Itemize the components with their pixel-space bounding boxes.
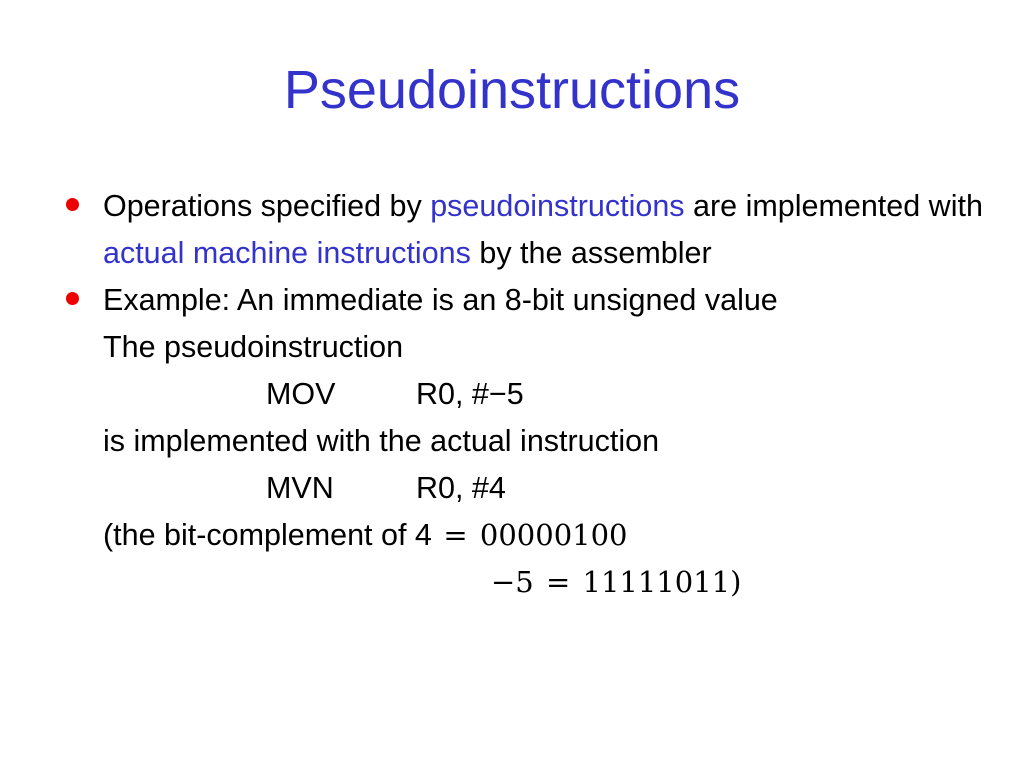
- mvn-mnemonic: MVN: [266, 465, 416, 512]
- bullet-2-line-3: is implemented with the actual instructi…: [103, 418, 988, 465]
- actual-instruction-code-line: MVNR0, #4: [103, 465, 988, 512]
- bullet-1-segment-1: Operations specified by: [103, 189, 430, 223]
- bullet-item-2: Example: An immediate is an 8-bit unsign…: [58, 277, 988, 606]
- slide: Pseudoinstructions Operations specified …: [0, 0, 1024, 768]
- negative-five-line: −5 = 11111011): [103, 559, 988, 606]
- bullet-2-line-1: Example: An immediate is an 8-bit unsign…: [103, 277, 988, 324]
- negative-five-binary-value: 11111011): [573, 565, 741, 599]
- slide-title: Pseudoinstructions: [0, 58, 1024, 122]
- bullet-1-highlight-2: actual machine instructions: [103, 236, 471, 270]
- bit-complement-equals-sign: =: [440, 518, 470, 552]
- pseudoinstruction-code-line: MOVR0, #−5: [103, 371, 988, 418]
- slide-body: Operations specified by pseudoinstructio…: [58, 183, 988, 606]
- mvn-operands: R0, #4: [416, 471, 506, 505]
- bullet-1-text: Operations specified by pseudoinstructio…: [103, 183, 988, 277]
- negative-five-equals-sign: =: [543, 565, 573, 599]
- bullet-1-segment-2: are implemented with: [685, 189, 983, 223]
- bullet-marker-icon: [66, 292, 79, 305]
- bullet-marker-icon: [66, 198, 79, 211]
- bit-complement-binary-value: 00000100: [471, 518, 628, 552]
- bullet-2-line-2: The pseudoinstruction: [103, 324, 988, 371]
- mov-mnemonic: MOV: [266, 371, 416, 418]
- bullet-1-segment-3: by the assembler: [471, 236, 712, 270]
- mov-operands: R0, #−5: [416, 377, 524, 411]
- bit-complement-prefix: (the bit-complement of 4: [103, 518, 440, 552]
- bit-complement-line: (the bit-complement of 4 = 00000100: [103, 512, 988, 559]
- bullet-item-1: Operations specified by pseudoinstructio…: [58, 183, 988, 277]
- bullet-1-highlight-1: pseudoinstructions: [430, 189, 684, 223]
- negative-five-operand: −5: [491, 565, 543, 599]
